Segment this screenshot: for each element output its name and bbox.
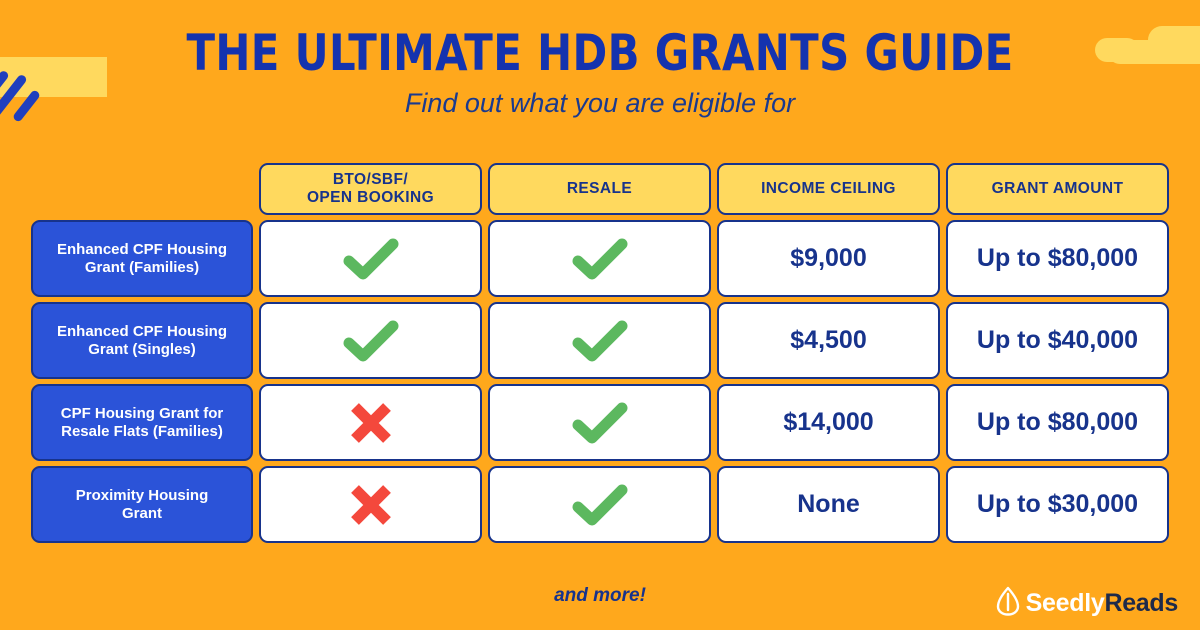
grant-amount-cell: Up to $80,000 <box>946 220 1169 297</box>
logo-word-reads: Reads <box>1104 589 1178 617</box>
cross-icon <box>347 399 395 447</box>
grant-amount-value: Up to $30,000 <box>946 466 1169 543</box>
table-header-income-ceiling: INCOME CEILING <box>717 163 940 215</box>
grant-name-label: Enhanced CPF Housing Grant (Singles) <box>31 302 253 379</box>
table-header-row: BTO/SBF/ OPEN BOOKING RESALE INCOME CEIL… <box>31 163 1169 215</box>
table-row: Enhanced CPF Housing Grant (Singles) <box>31 302 1169 379</box>
grant-amount-cell: Up to $40,000 <box>946 302 1169 379</box>
page-title: THE ULTIMATE HDB GRANTS GUIDE <box>42 0 1158 82</box>
bto-eligibility-cell <box>259 384 482 461</box>
income-ceiling-cell: $9,000 <box>717 220 940 297</box>
check-icon <box>572 319 628 363</box>
check-icon <box>343 319 399 363</box>
grant-amount-cell: Up to $80,000 <box>946 384 1169 461</box>
grant-name-line2: Grant <box>122 505 162 522</box>
grant-name-cell: CPF Housing Grant for Resale Flats (Fami… <box>31 384 253 461</box>
grant-amount-value: Up to $40,000 <box>946 302 1169 379</box>
grant-name-label: Enhanced CPF Housing Grant (Families) <box>31 220 253 297</box>
grants-table: BTO/SBF/ OPEN BOOKING RESALE INCOME CEIL… <box>31 163 1169 543</box>
seedly-reads-logo: SeedlyReads <box>995 586 1178 621</box>
grant-amount-value: Up to $80,000 <box>946 220 1169 297</box>
income-ceiling-cell: $14,000 <box>717 384 940 461</box>
table-header-resale: RESALE <box>488 163 711 215</box>
grant-name-line2: Grant (Families) <box>85 259 199 276</box>
grant-name-label: Proximity Housing Grant <box>31 466 253 543</box>
check-icon <box>572 483 628 527</box>
grant-name-cell: Enhanced CPF Housing Grant (Singles) <box>31 302 253 379</box>
table-row: Enhanced CPF Housing Grant (Families) <box>31 220 1169 297</box>
table-row: Proximity Housing Grant <box>31 466 1169 543</box>
logo-word-seedly: Seedly <box>1026 589 1105 617</box>
check-icon <box>343 237 399 281</box>
income-ceiling-value: $14,000 <box>717 384 940 461</box>
check-icon <box>572 401 628 445</box>
resale-eligibility-cell <box>488 384 711 461</box>
resale-eligibility-cell <box>488 466 711 543</box>
bto-eligibility-cell <box>259 302 482 379</box>
grant-name-line1: Enhanced CPF Housing <box>57 241 227 258</box>
seedly-leaf-icon <box>995 586 1021 621</box>
table-header-grant-amount: GRANT AMOUNT <box>946 163 1169 215</box>
grant-name-line1: Proximity Housing <box>76 487 209 504</box>
grant-name-line1: Enhanced CPF Housing <box>57 323 227 340</box>
grant-name-line2: Resale Flats (Families) <box>61 423 223 440</box>
logo-wordmark: SeedlyReads <box>1026 591 1178 616</box>
header: THE ULTIMATE HDB GRANTS GUIDE Find out w… <box>0 0 1200 140</box>
grant-name-cell: Enhanced CPF Housing Grant (Families) <box>31 220 253 297</box>
bto-eligibility-cell <box>259 220 482 297</box>
income-ceiling-cell: None <box>717 466 940 543</box>
income-ceiling-value: $9,000 <box>717 220 940 297</box>
income-ceiling-cell: $4,500 <box>717 302 940 379</box>
page-subtitle: Find out what you are eligible for <box>0 82 1200 119</box>
income-ceiling-value: $4,500 <box>717 302 940 379</box>
grant-name-cell: Proximity Housing Grant <box>31 466 253 543</box>
table-header-bto-line2: OPEN BOOKING <box>307 189 434 206</box>
table-row: CPF Housing Grant for Resale Flats (Fami… <box>31 384 1169 461</box>
infographic-page: THE ULTIMATE HDB GRANTS GUIDE Find out w… <box>0 0 1200 630</box>
grant-amount-value: Up to $80,000 <box>946 384 1169 461</box>
cross-icon <box>347 481 395 529</box>
table-header-bto-sbf-open-booking: BTO/SBF/ OPEN BOOKING <box>259 163 482 215</box>
resale-eligibility-cell <box>488 220 711 297</box>
income-ceiling-value: None <box>717 466 940 543</box>
grant-name-label: CPF Housing Grant for Resale Flats (Fami… <box>31 384 253 461</box>
grant-name-line2: Grant (Singles) <box>88 341 196 358</box>
check-icon <box>572 237 628 281</box>
table-header-bto-line1: BTO/SBF/ <box>333 171 408 188</box>
bto-eligibility-cell <box>259 466 482 543</box>
grant-name-line1: CPF Housing Grant for <box>61 405 224 422</box>
resale-eligibility-cell <box>488 302 711 379</box>
table-header-corner <box>31 163 253 215</box>
grant-amount-cell: Up to $30,000 <box>946 466 1169 543</box>
